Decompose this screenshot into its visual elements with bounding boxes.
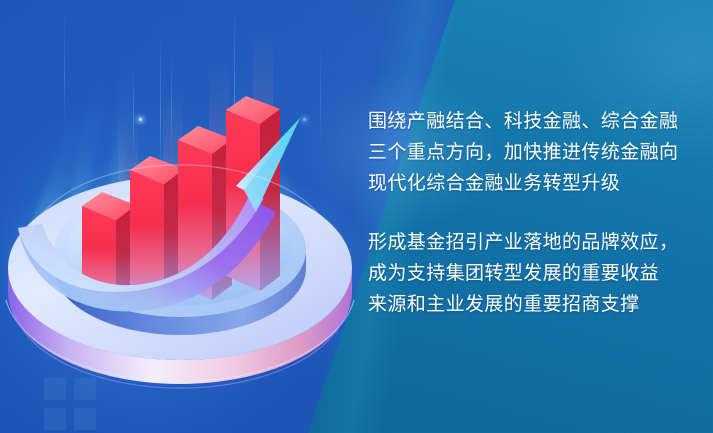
growth-chart-illustration bbox=[0, 0, 360, 433]
paragraph-2-line-2: 成为支持集团转型发展的重要收益 bbox=[368, 258, 688, 289]
promo-banner: 围绕产融结合、科技金融、综合金融 三个重点方向，加快推进传统金融向 现代化综合金… bbox=[0, 0, 713, 433]
paragraph-1-line-3: 现代化综合金融业务转型升级 bbox=[368, 168, 688, 199]
paragraph-1: 围绕产融结合、科技金融、综合金融 三个重点方向，加快推进传统金融向 现代化综合金… bbox=[368, 106, 688, 199]
paragraph-2: 形成基金招引产业落地的品牌效应， 成为支持集团转型发展的重要收益 来源和主业发展… bbox=[368, 227, 688, 320]
paragraph-2-line-1: 形成基金招引产业落地的品牌效应， bbox=[368, 227, 688, 258]
paragraph-1-line-1: 围绕产融结合、科技金融、综合金融 bbox=[368, 106, 688, 137]
paragraph-2-line-3: 来源和主业发展的重要招商支撑 bbox=[368, 289, 688, 320]
paragraph-1-line-2: 三个重点方向，加快推进传统金融向 bbox=[368, 137, 688, 168]
text-content: 围绕产融结合、科技金融、综合金融 三个重点方向，加快推进传统金融向 现代化综合金… bbox=[368, 106, 688, 320]
